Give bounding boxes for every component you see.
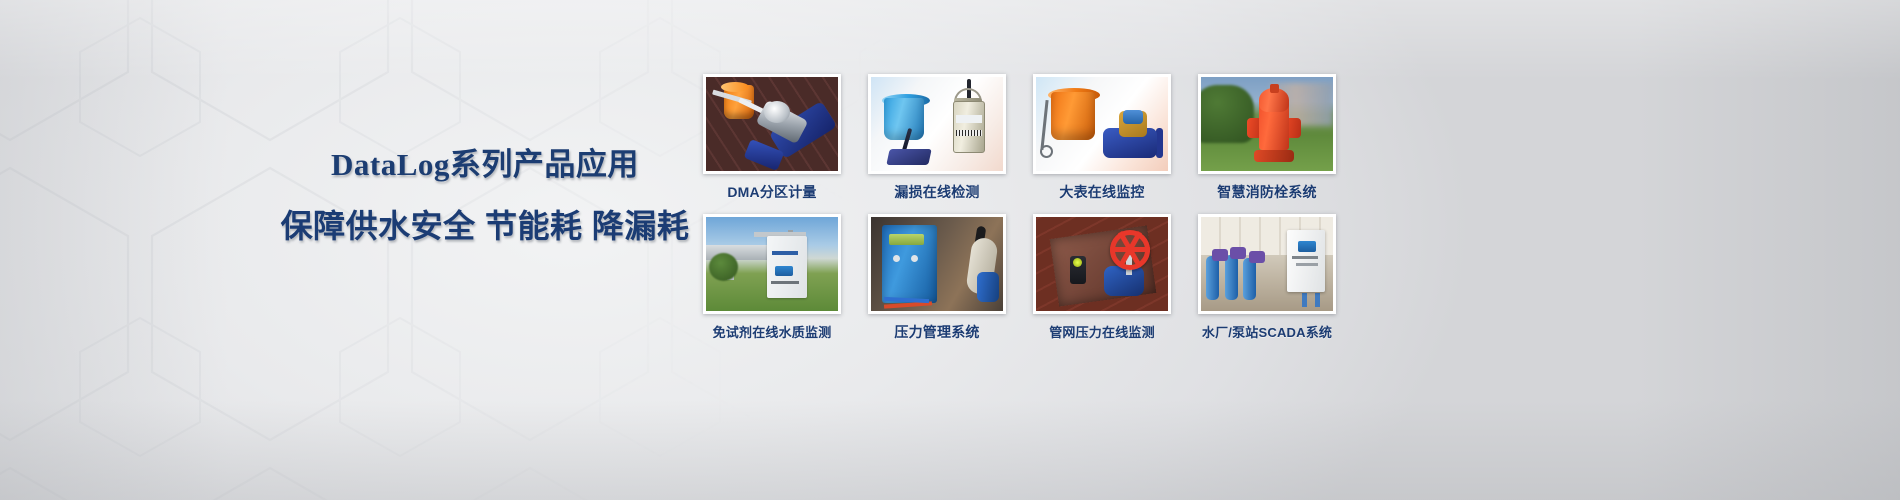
thumbnail-frame[interactable] xyxy=(703,214,841,314)
thumbnail-frame[interactable] xyxy=(868,214,1006,314)
thumbnail-frame[interactable] xyxy=(1033,74,1171,174)
thumbnail-frame[interactable] xyxy=(868,74,1006,174)
thumbnail-frame[interactable] xyxy=(1198,74,1336,174)
grid-item-caption: 压力管理系统 xyxy=(868,322,1006,342)
leak-online-detection-photo xyxy=(871,77,1003,171)
grid-item-caption: DMA分区计量 xyxy=(703,182,841,202)
grid-item-pressure-management-system[interactable]: 压力管理系统 xyxy=(868,214,1006,342)
pipe-network-pressure-photo xyxy=(1036,217,1168,311)
headline-block: DataLog系列产品应用 保障供水安全 节能耗 降漏耗 xyxy=(250,148,720,244)
grid-item-large-meter-monitoring[interactable]: 大表在线监控 xyxy=(1033,74,1171,202)
grid-item-caption: 漏损在线检测 xyxy=(868,182,1006,202)
product-application-grid: DMA分区计量 漏损在线检测 大表在线监控 xyxy=(703,74,1336,342)
grid-item-reagent-free-water-quality[interactable]: 免试剂在线水质监测 xyxy=(703,214,841,342)
headline-line-2: 保障供水安全 节能耗 降漏耗 xyxy=(250,208,720,244)
grid-item-dma-zone-metering[interactable]: DMA分区计量 xyxy=(703,74,841,202)
promotional-banner: DataLog系列产品应用 保障供水安全 节能耗 降漏耗 DMA分区计量 漏损在… xyxy=(0,0,1900,500)
pressure-management-system-photo xyxy=(871,217,1003,311)
grid-item-caption: 管网压力在线监测 xyxy=(1023,322,1181,341)
waterworks-scada-photo xyxy=(1201,217,1333,311)
grid-item-caption: 智慧消防栓系统 xyxy=(1198,182,1336,202)
grid-item-caption: 水厂/泵站SCADA系统 xyxy=(1188,322,1346,341)
grid-item-caption: 大表在线监控 xyxy=(1033,182,1171,202)
headline-line-1: DataLog系列产品应用 xyxy=(250,148,720,182)
thumbnail-frame[interactable] xyxy=(1198,214,1336,314)
thumbnail-frame[interactable] xyxy=(703,74,841,174)
reagent-free-water-quality-photo xyxy=(706,217,838,311)
dma-zone-metering-photo xyxy=(706,77,838,171)
smart-hydrant-system-photo xyxy=(1201,77,1333,171)
grid-item-pipe-network-pressure[interactable]: 管网压力在线监测 xyxy=(1033,214,1171,342)
thumbnail-frame[interactable] xyxy=(1033,214,1171,314)
large-meter-monitoring-photo xyxy=(1036,77,1168,171)
grid-item-leak-online-detection[interactable]: 漏损在线检测 xyxy=(868,74,1006,202)
grid-item-caption: 免试剂在线水质监测 xyxy=(693,322,851,341)
grid-item-waterworks-scada[interactable]: 水厂/泵站SCADA系统 xyxy=(1198,214,1336,342)
grid-item-smart-hydrant-system[interactable]: 智慧消防栓系统 xyxy=(1198,74,1336,202)
